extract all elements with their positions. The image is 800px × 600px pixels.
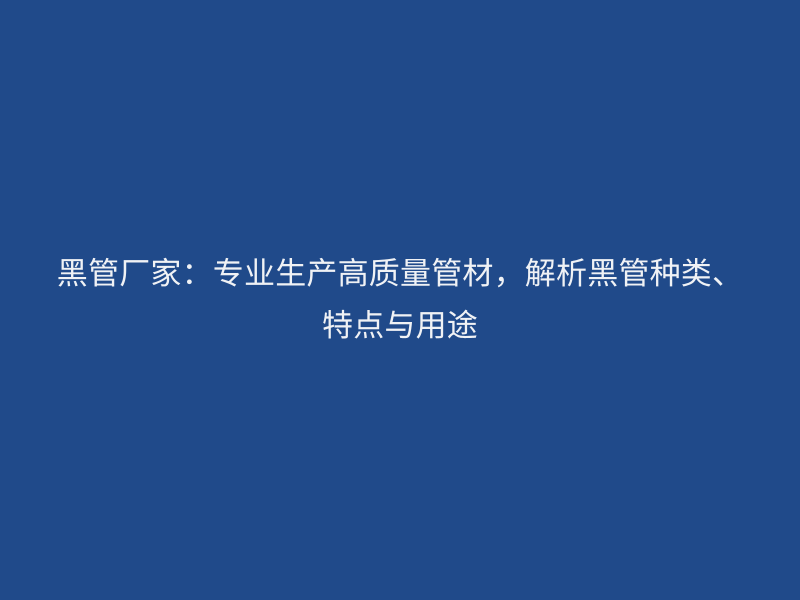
banner-title: 黑管厂家：专业生产高质量管材，解析黑管种类、特点与用途 (55, 248, 745, 352)
banner-container: 黑管厂家：专业生产高质量管材，解析黑管种类、特点与用途 (0, 0, 800, 600)
banner-content: 黑管厂家：专业生产高质量管材，解析黑管种类、特点与用途 (0, 248, 800, 352)
